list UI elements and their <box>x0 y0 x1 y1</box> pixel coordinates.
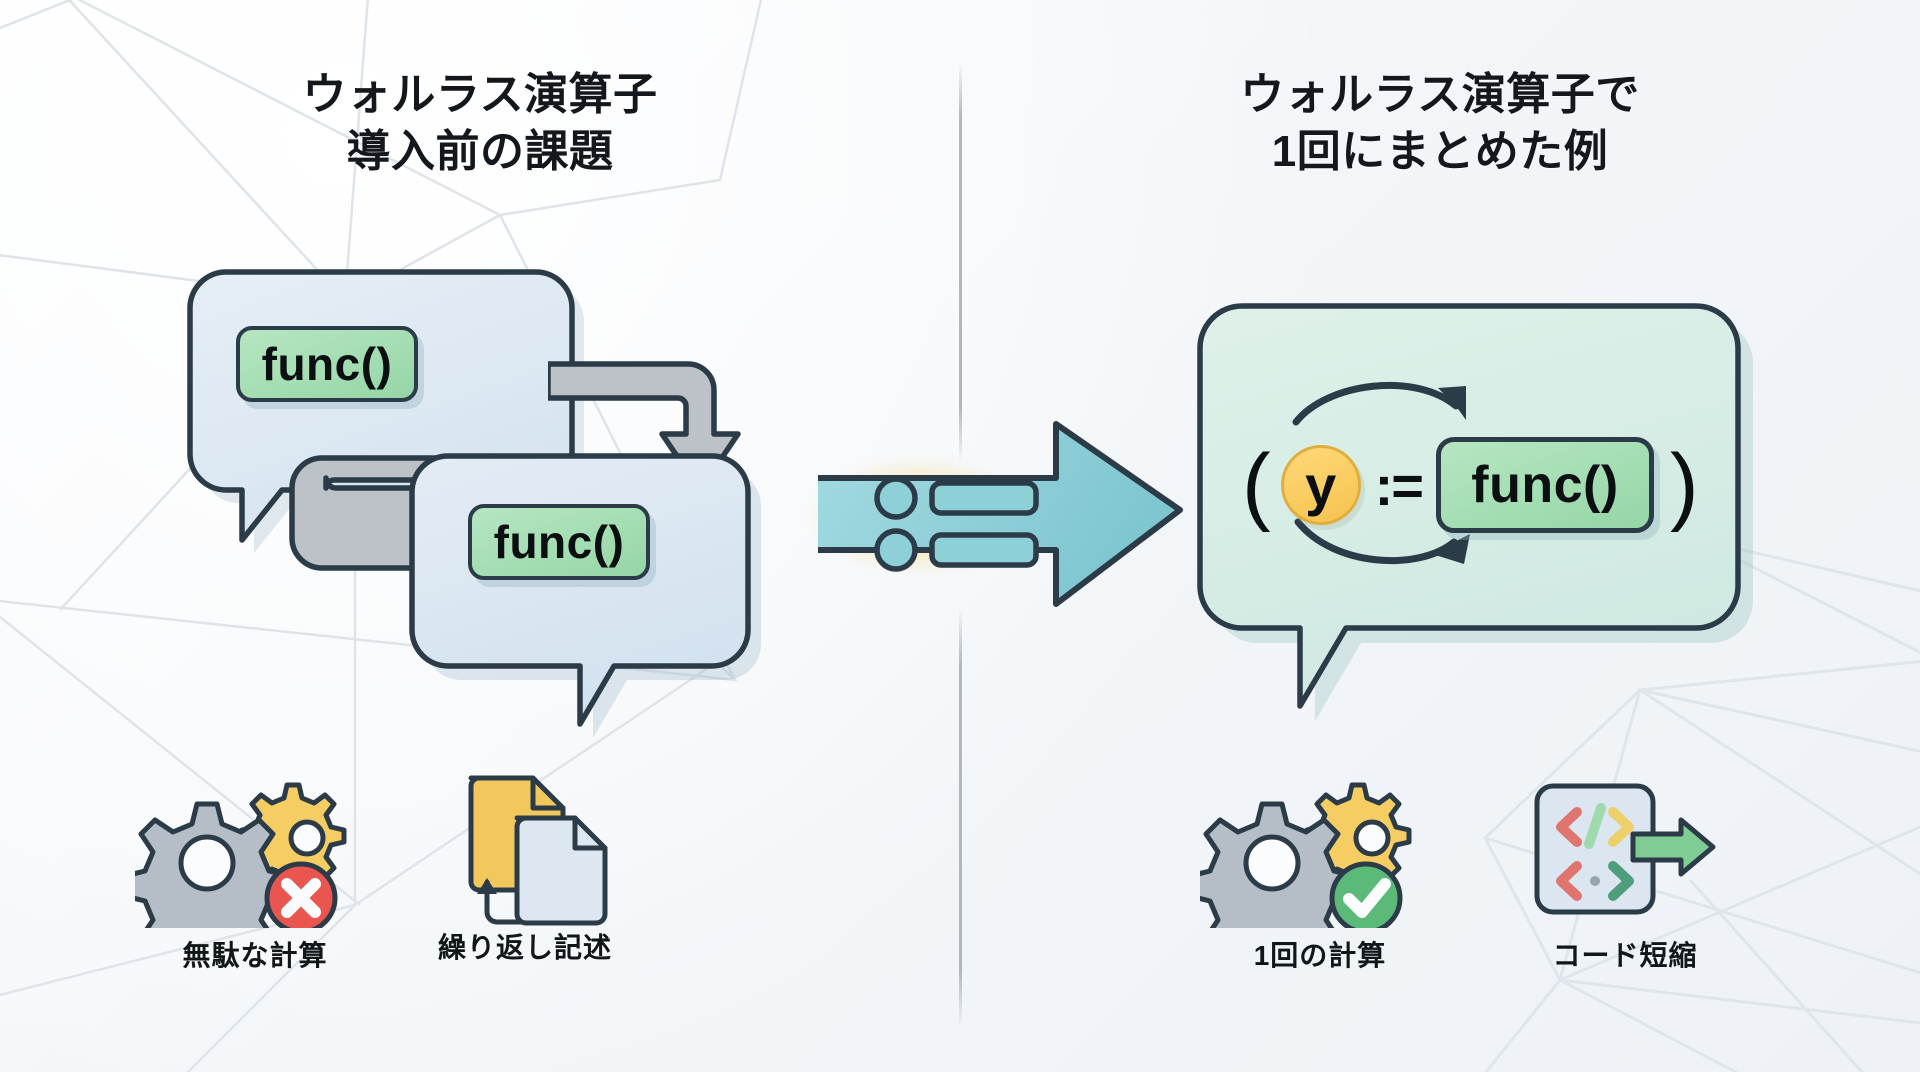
cycle-arrow-top <box>1296 385 1456 422</box>
func-badge-right-label: func() <box>1471 455 1618 515</box>
func-badge-first-label: func() <box>262 337 393 391</box>
duplicate-documents-icon <box>405 770 645 920</box>
feature-label: コード短縮 <box>1505 934 1745 974</box>
feature-shorter-code[interactable]: コード短縮 <box>1505 778 1745 974</box>
feature-single-computation[interactable]: 1回の計算 <box>1200 778 1440 974</box>
left-panel-title: ウォルラス演算子 導入前の課題 <box>120 66 840 180</box>
feature-label: 1回の計算 <box>1200 934 1440 974</box>
variable-label: y <box>1305 453 1336 518</box>
open-paren: ( <box>1242 442 1271 528</box>
gears-error-icon <box>135 778 375 928</box>
panel-divider-bottom <box>959 608 962 1028</box>
speech-bubble-shape <box>408 452 782 752</box>
feature-label: 無駄な計算 <box>135 934 375 974</box>
func-badge-second[interactable]: func() <box>468 504 650 580</box>
right-bubble[interactable]: ( y := func() ) <box>1196 302 1766 722</box>
walrus-operator: := <box>1375 453 1422 518</box>
gears-success-icon <box>1200 778 1440 928</box>
code-shorten-icon <box>1505 778 1745 928</box>
right-panel-title: ウォルラス演算子で 1回にまとめた例 <box>1060 66 1820 180</box>
variable-circle[interactable]: y <box>1281 445 1361 525</box>
close-paren: ) <box>1670 442 1699 528</box>
func-badge-right[interactable]: func() <box>1436 437 1654 533</box>
left-bubble-second[interactable]: func() <box>408 452 782 752</box>
feature-label: 繰り返し記述 <box>405 926 645 966</box>
feature-repeated-code[interactable]: 繰り返し記述 <box>405 770 645 966</box>
walrus-expression: ( y := func() ) <box>1242 430 1722 540</box>
list-lines-icon <box>874 476 1046 572</box>
func-badge-second-label: func() <box>494 515 625 569</box>
func-badge-first[interactable]: func() <box>236 326 418 402</box>
infographic-canvas: ウォルラス演算子 導入前の課題 ウォルラス演算子で 1回にまとめた例 func(… <box>0 0 1920 1072</box>
feature-wasted-computation[interactable]: 無駄な計算 <box>135 778 375 974</box>
transform-arrow-group <box>818 398 1188 628</box>
